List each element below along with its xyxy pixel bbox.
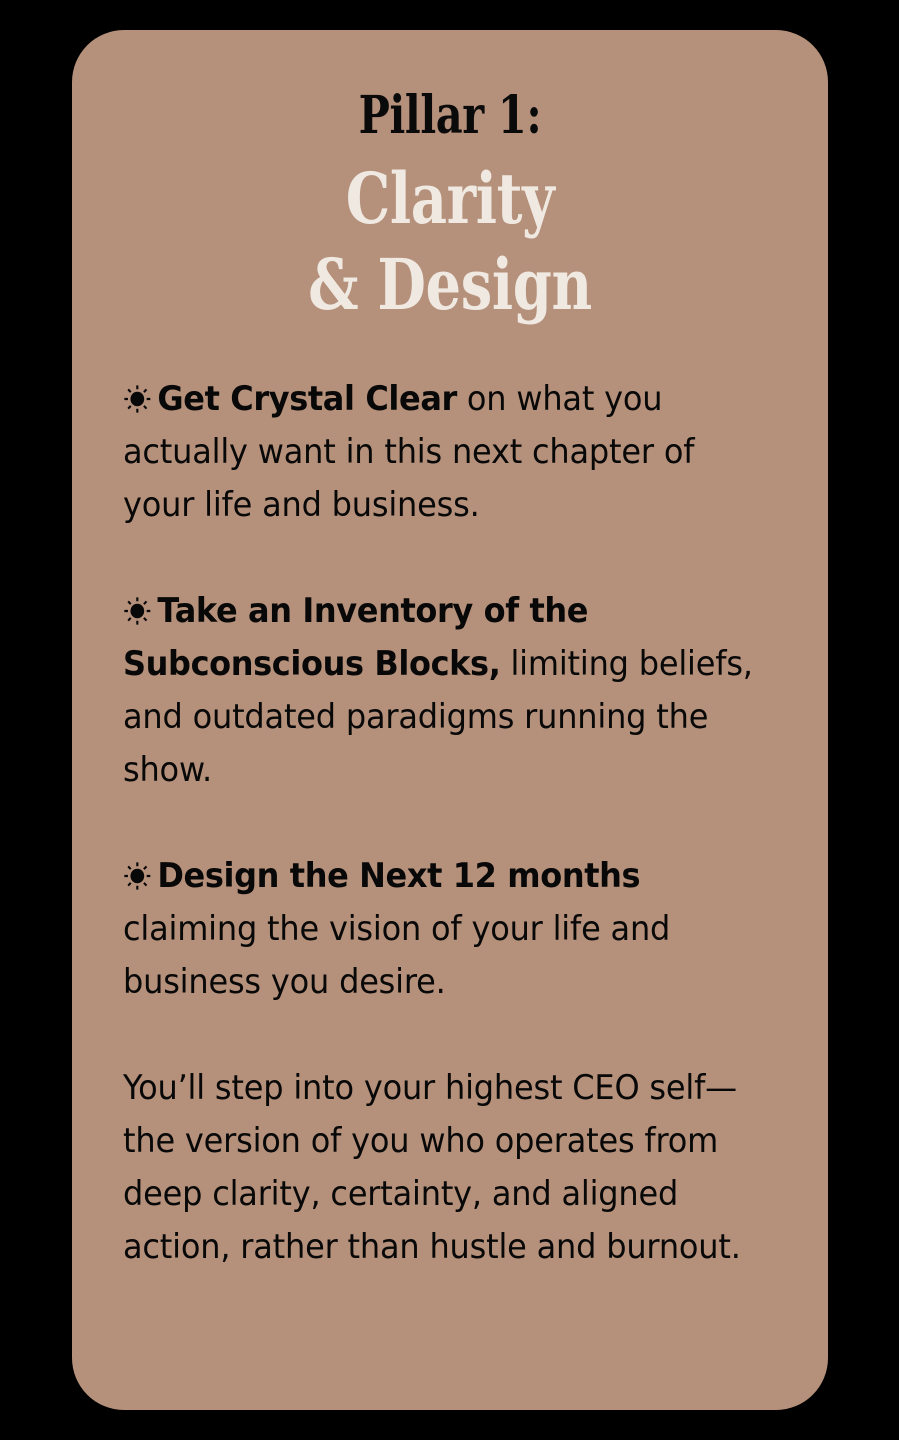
sun-icon: [123, 861, 152, 891]
pillar-card: Pillar 1: Clarity & Design Get Crystal C…: [72, 30, 828, 1410]
card-title-block: Pillar 1: Clarity & Design: [72, 90, 828, 320]
bullet-rest-text: claiming the vision of your life and bus…: [123, 909, 670, 1001]
bullet-paragraph: Take an Inventory of the Subconscious Bl…: [123, 584, 753, 796]
sun-icon: [123, 596, 152, 626]
bullet-paragraph: Get Crystal Clear on what you actually w…: [123, 372, 753, 531]
closing-paragraph: You’ll step into your highest CEO self—t…: [123, 1061, 753, 1273]
card-body: Get Crystal Clear on what you actually w…: [123, 372, 753, 1273]
bullet-bold-text: Design the Next 12 months: [157, 856, 640, 895]
title-main-line-1: Clarity: [148, 164, 753, 234]
title-main-line-2: & Design: [148, 250, 753, 320]
sun-icon: [123, 384, 152, 414]
title-eyebrow: Pillar 1:: [148, 90, 753, 142]
bullet-paragraph: Design the Next 12 months claiming the v…: [123, 849, 753, 1008]
bullet-bold-text: Get Crystal Clear: [157, 379, 457, 418]
